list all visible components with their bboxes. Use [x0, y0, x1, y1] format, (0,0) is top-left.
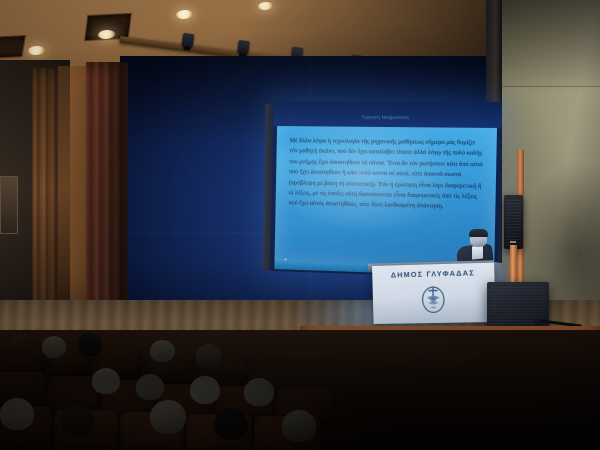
- slide-header-title: Τεχνητή Νοημοσύνη: [361, 115, 409, 120]
- auditorium-photo: Τεχνητή Νοημοσύνη Μέ ἄλλα λόγια ἡ τεχνολ…: [0, 0, 600, 450]
- presenter-shirt: [472, 245, 483, 259]
- slide-header-bar: Τεχνητή Νοημοσύνη: [273, 101, 502, 128]
- slide-body-text: Μέ ἄλλα λόγια ἡ τεχνολογία τῆς μηχανικῆς…: [288, 136, 485, 214]
- stage-spotlight-icon: [182, 33, 195, 48]
- slide-bullet-dot: [284, 258, 286, 260]
- auditorium-shadow: [0, 330, 600, 450]
- wall-artwork: [0, 176, 18, 234]
- podium: ΔΗΜΟΣ ΓΛΥΦΑΔΑΣ: [372, 263, 496, 324]
- speaker-badge: [510, 241, 516, 243]
- speaker-grille: [506, 198, 521, 246]
- speaker-pole-lower: [510, 245, 517, 287]
- presenter-hair: [469, 229, 488, 237]
- pa-speaker-satellite: [504, 195, 523, 249]
- stage-spotlight-icon: [237, 40, 250, 55]
- glyfada-municipal-emblem-icon: [417, 280, 451, 315]
- podium-banner-text: ΔΗΜΟΣ ΓΛΥΦΑΔΑΣ: [380, 268, 486, 280]
